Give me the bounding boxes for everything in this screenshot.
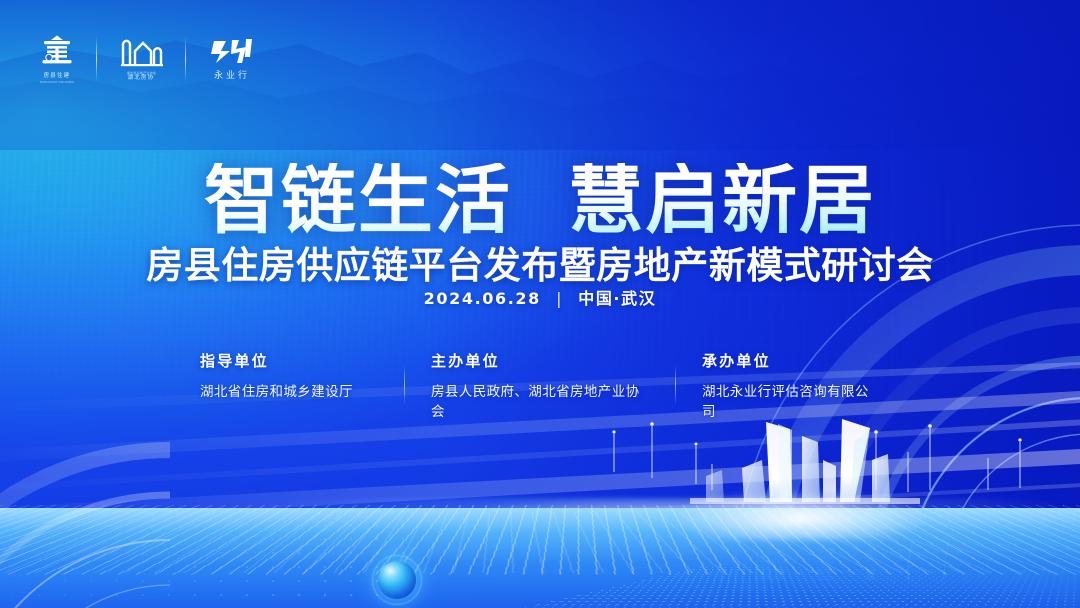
- logo-divider-2: [185, 36, 186, 82]
- logo-bar: 房县住建 FANGXIAN HOUSING 湖北省房地产业协会: [38, 34, 258, 84]
- page-subtitle: 房县住房供应链平台发布暨房地产新模式研讨会: [0, 247, 1080, 284]
- organization-organizer: 承办单位 湖北永业行评估咨询有限公司: [676, 350, 906, 420]
- poster-canvas: 房县住建 FANGXIAN HOUSING 湖北省房地产业协会: [0, 0, 1080, 608]
- date-location-line: 2024.06.28 | 中国·武汉: [0, 285, 1080, 309]
- organization-host: 主办单位 房县人民政府、湖北省房地产业协会: [405, 350, 675, 420]
- hubei-real-estate-association-logo[interactable]: 湖北省房地产业协会 湖北房协: [117, 36, 165, 82]
- fangxian-housing-logo-caption: 房县住建 FANGXIAN HOUSING: [39, 73, 75, 84]
- page-title: 智链生活 慧启新居: [0, 163, 1080, 238]
- yongyehang-logo-caption: 永业行: [214, 70, 250, 81]
- organization-title: 主办单位: [431, 350, 649, 371]
- date-location-separator: |: [556, 289, 563, 308]
- yh-monogram-icon: [206, 37, 258, 67]
- event-date: 2024.06.28: [424, 289, 541, 308]
- event-location: 中国·武汉: [578, 289, 656, 308]
- hubei-association-logo-caption: 湖北省房地产业协会 湖北房协: [126, 71, 157, 82]
- house-arch-icon: [117, 36, 165, 68]
- pagoda-building-icon: [38, 34, 76, 70]
- organization-title: 指导单位: [200, 350, 378, 371]
- organization-title: 承办单位: [702, 350, 880, 371]
- logo-divider-1: [96, 36, 97, 82]
- organization-row: 指导单位 湖北省住房和城乡建设厅 主办单位 房县人民政府、湖北省房地产业协会 承…: [0, 350, 1080, 420]
- organization-name: 房县人民政府、湖北省房地产业协会: [431, 380, 649, 420]
- yongyehang-logo[interactable]: 永业行: [206, 37, 258, 81]
- fangxian-housing-logo[interactable]: 房县住建 FANGXIAN HOUSING: [38, 34, 76, 84]
- organization-name: 湖北永业行评估咨询有限公司: [702, 380, 880, 420]
- organization-guidance: 指导单位 湖北省住房和城乡建设厅: [174, 350, 404, 420]
- organization-name: 湖北省住房和城乡建设厅: [200, 380, 378, 400]
